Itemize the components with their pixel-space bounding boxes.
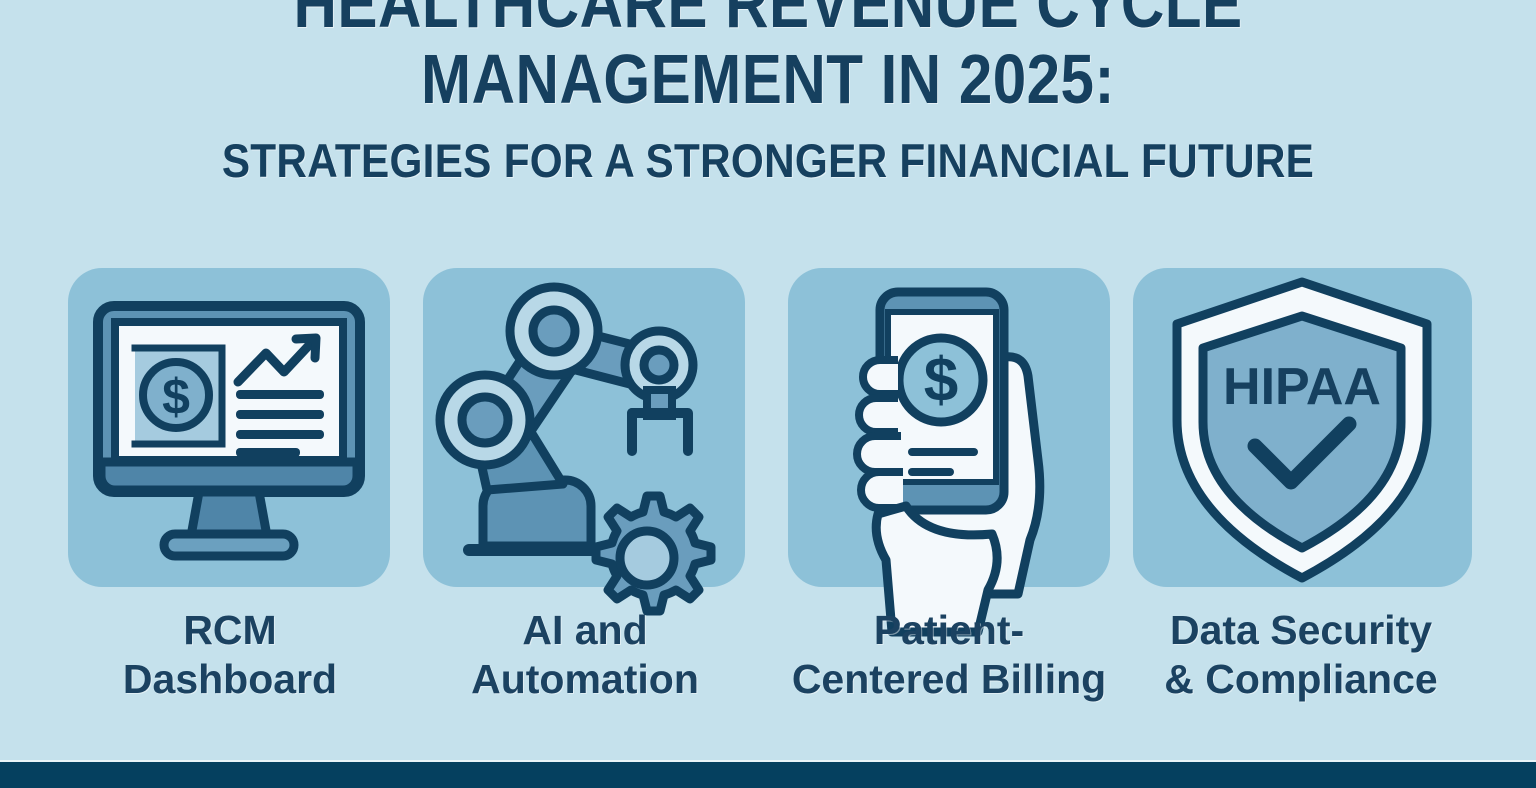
card-data-security-compliance[interactable]: HIPAA (1133, 268, 1472, 587)
page-title-line-1: HEALTHCARE REVENUE CYCLE (108, 0, 1429, 40)
caption-rcm-dashboard: RCM Dashboard (60, 606, 400, 704)
hipaa-shield-check-icon: HIPAA (1133, 268, 1472, 587)
shield-label: HIPAA (1223, 358, 1381, 416)
page-subtitle: STRATEGIES FOR A STRONGER FINANCIAL FUTU… (77, 136, 1459, 186)
caption-ai-automation: AI and Automation (415, 606, 755, 704)
infographic-canvas: HEALTHCARE REVENUE CYCLE MANAGEMENT IN 2… (0, 0, 1536, 788)
heading-block: HEALTHCARE REVENUE CYCLE MANAGEMENT IN 2… (0, 0, 1536, 186)
card-ai-automation[interactable] (423, 268, 745, 587)
page-title-line-2: MANAGEMENT IN 2025: (108, 40, 1429, 118)
caption-row: RCM Dashboard AI and Automation Patient-… (0, 606, 1536, 718)
caption-patient-centered-billing: Patient- Centered Billing (778, 606, 1120, 704)
hand-holding-phone-icon: $ (788, 268, 1110, 587)
rcm-dashboard-monitor-icon: $ (68, 268, 390, 587)
card-rcm-dashboard[interactable]: $ (68, 268, 390, 587)
icon-card-row: $ (0, 268, 1536, 588)
footer-bar (0, 760, 1536, 788)
svg-text:$: $ (162, 369, 190, 425)
caption-data-security-compliance: Data Security & Compliance (1125, 606, 1477, 704)
robot-arm-gear-icon (423, 268, 745, 587)
svg-text:$: $ (924, 346, 958, 415)
card-patient-centered-billing[interactable]: $ (788, 268, 1110, 587)
